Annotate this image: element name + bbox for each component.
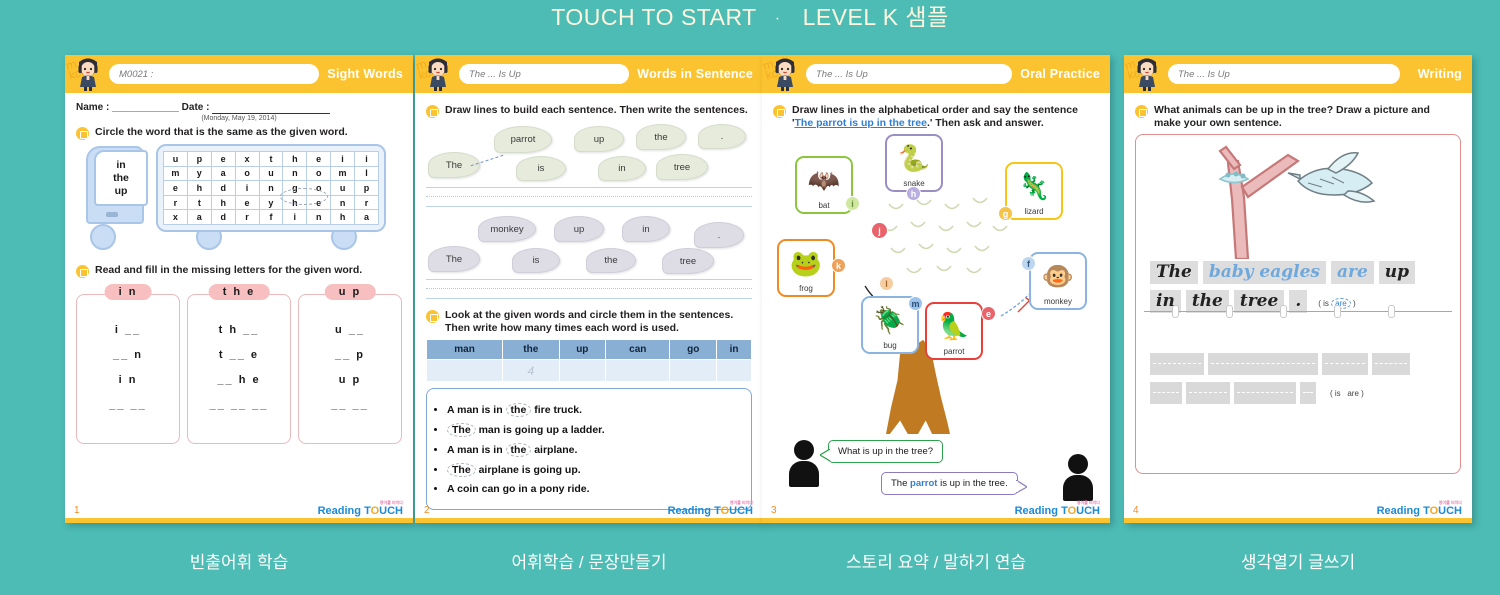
leaf-word[interactable]: in <box>622 216 670 242</box>
footer-bar <box>65 518 413 523</box>
word-line[interactable]: t __ e <box>188 349 290 361</box>
panel-1-instruction-1: Circle the word that is the same as the … <box>95 126 348 139</box>
leaf-word[interactable]: . <box>698 124 746 149</box>
date-label: Date : <box>182 102 213 113</box>
bat-icon: 🦇 <box>808 158 840 201</box>
speech-bubble-answer: The parrot is up in the tree. <box>881 472 1018 495</box>
count-cell[interactable] <box>670 360 717 382</box>
grid-cell[interactable]: p <box>187 152 211 167</box>
monkey-icon: 🐵 <box>1042 254 1074 297</box>
brand-logo-reading: Reading <box>318 505 361 517</box>
grid-cell[interactable]: h <box>283 152 307 167</box>
grid-cell[interactable]: d <box>211 210 235 225</box>
binder-clip-icon <box>1172 305 1179 318</box>
grid-cell[interactable]: a <box>355 210 379 225</box>
handwritten-word[interactable]: The <box>1150 261 1198 284</box>
grid-cell[interactable]: a <box>187 210 211 225</box>
binder-clip-icon <box>1334 305 1341 318</box>
grid-cell[interactable]: l <box>355 166 379 181</box>
leaf-word[interactable]: is <box>516 156 566 181</box>
footer-bar <box>415 518 763 523</box>
child-drawing-tree-and-bird-icon <box>1136 139 1460 259</box>
divider-line <box>1144 311 1452 312</box>
leaf-word[interactable]: in <box>598 156 646 181</box>
girl-mascot-icon <box>71 56 105 92</box>
girl-mascot-icon <box>1130 56 1164 92</box>
binder-clip-icon <box>1226 305 1233 318</box>
worksheet-panel-1[interactable]: mkoo M0021 : Sight Words Name : ________… <box>65 55 413 523</box>
blank-slot[interactable] <box>1372 353 1410 375</box>
date-hint: (Monday, May 19, 2014) <box>76 115 402 122</box>
grid-cell[interactable]: u <box>164 152 188 167</box>
given-word-2: up <box>115 185 128 198</box>
worksheet-panel-3[interactable]: mkoo The ... Is Up Oral Practice <box>762 55 1110 523</box>
panel-3-instruction-line2-tail: .' Then ask and answer. <box>927 117 1044 129</box>
grid-cell[interactable]: r <box>164 195 188 210</box>
caption-panel-2: 어휘학습 / 문장만들기 <box>415 548 763 573</box>
blank-choice-is[interactable]: is <box>1335 389 1341 398</box>
bubble-tail-icon <box>820 449 830 461</box>
number-badge-icon <box>76 127 89 140</box>
dialogue-row: What is up in the tree? The parrot is up… <box>773 434 1099 504</box>
grid-cell[interactable]: d <box>211 181 235 196</box>
word-line[interactable]: __ __ <box>77 399 179 411</box>
word-line[interactable]: t h __ <box>188 324 290 336</box>
given-words-window: in the up <box>94 150 148 206</box>
brand-logo-reading: Reading <box>1377 505 1420 517</box>
table-row[interactable]: 4 <box>427 360 752 382</box>
footer-bar <box>762 518 1110 523</box>
brand-logo-o: O <box>721 505 730 517</box>
order-badge[interactable]: f <box>1021 256 1036 271</box>
count-cell[interactable] <box>717 360 752 382</box>
word-line[interactable]: i __ <box>77 324 179 336</box>
leaf-word[interactable]: tree <box>656 154 708 180</box>
letter-grid-box[interactable]: upextheii myaounoml ehdingoup rtheyhenr … <box>156 144 386 232</box>
panel-2-instruction-2-row: Look at the given words and circle them … <box>426 309 752 335</box>
handwritten-word[interactable]: baby eagles <box>1203 261 1326 284</box>
blank-line-2: ( is are ) <box>1150 382 1434 404</box>
brand-logo-o: O <box>371 505 380 517</box>
choice-open: ( <box>1318 299 1321 308</box>
girl-mascot-icon <box>768 56 802 92</box>
caption-panel-1: 빈출어휘 학습 <box>65 548 413 573</box>
blank-verb-choice[interactable]: ( is are ) <box>1330 389 1364 398</box>
leaf-word-group-1: The parrot is up in the tree . <box>426 122 752 184</box>
binder-clip-icon <box>1280 305 1287 318</box>
sentence-post: airplane. <box>531 444 577 456</box>
date-blank-line[interactable] <box>212 102 330 114</box>
grid-cell[interactable]: r <box>355 195 379 210</box>
grid-cell[interactable]: x <box>235 152 259 167</box>
animal-label: monkey <box>1044 297 1072 306</box>
grid-cell[interactable]: n <box>331 195 355 210</box>
letter-grid[interactable]: upextheii myaounoml ehdingoup rtheyhenr … <box>163 151 379 225</box>
binder-clip-icon <box>1388 305 1395 318</box>
grid-cell[interactable]: n <box>283 166 307 181</box>
brand-logo-reading: Reading <box>668 505 711 517</box>
word-line[interactable]: __ n <box>77 349 179 361</box>
panel-2-sheet: Draw lines to build each sentence. Then … <box>415 93 763 523</box>
grid-cell[interactable]: n <box>307 210 331 225</box>
word-column[interactable]: t h e t h __ t __ e __ h e __ __ __ <box>187 294 291 444</box>
grid-cell[interactable]: e <box>164 181 188 196</box>
page-number: 3 <box>771 505 777 516</box>
name-date-row: Name : ____________ Date : <box>76 102 402 114</box>
brand-logo-o: O <box>1068 505 1077 517</box>
grid-cell[interactable]: e <box>235 195 259 210</box>
panel-4-section-label: Writing <box>1418 67 1472 81</box>
caption-panel-3: 스토리 요약 / 말하기 연습 <box>762 548 1110 573</box>
panel-1-sheet: Name : ____________ Date : (Monday, May … <box>65 93 413 523</box>
blank-choice-are[interactable]: are <box>1347 389 1359 398</box>
number-badge-icon <box>1135 105 1148 118</box>
speech-bubble-question: What is up in the tree? <box>828 440 943 463</box>
bug-icon: 🪲 <box>874 298 906 341</box>
truck-illustration: in the up upextheii myaounoml ehdingoup … <box>76 144 402 254</box>
worksheet-panel-4[interactable]: mkoo The ... Is Up Writing Wh <box>1124 55 1472 523</box>
grid-cell[interactable]: m <box>331 166 355 181</box>
blank-choice-open: ( <box>1330 389 1333 398</box>
number-badge-icon <box>773 105 786 118</box>
grid-cell[interactable]: r <box>235 210 259 225</box>
page-number: 2 <box>424 505 430 516</box>
panel-2-instruction-2-line1: Look at the given words and circle them … <box>445 309 733 321</box>
brand-logo-uch: UCH <box>1438 505 1462 517</box>
word-column-head: t h e <box>209 284 270 300</box>
order-badge[interactable]: m <box>908 296 923 311</box>
order-badge[interactable]: h <box>906 186 921 201</box>
answer-post: is up in the tree. <box>937 478 1007 489</box>
list-item[interactable]: The airplane is going up. <box>447 463 745 477</box>
handwritten-line-1: The baby eagles are up <box>1150 261 1432 284</box>
panel-4-sheet: What animals can be up in the tree? Draw… <box>1124 93 1472 523</box>
grid-cell[interactable]: x <box>164 210 188 225</box>
panel-3-header: mkoo The ... Is Up Oral Practice <box>762 55 1110 93</box>
blank-slot[interactable] <box>1186 382 1230 404</box>
leaf-word[interactable]: The <box>428 246 480 272</box>
blank-slot[interactable] <box>1150 382 1182 404</box>
circled-answer-marker <box>280 188 328 205</box>
grid-cell[interactable]: a <box>211 166 235 181</box>
word-line[interactable]: u __ <box>299 324 401 336</box>
blank-slot[interactable] <box>1208 353 1318 375</box>
leaf-word[interactable]: . <box>694 222 744 248</box>
brand-logo-o: O <box>1430 505 1439 517</box>
truck-wheel <box>90 224 116 250</box>
parrot-icon: 🦜 <box>938 304 970 347</box>
panel-1-unit-title: M0021 : <box>109 64 319 84</box>
panel-4-instruction-row: What animals can be up in the tree? Draw… <box>1135 104 1461 130</box>
list-item[interactable]: A coin can go in a pony ride. <box>447 483 745 495</box>
number-badge-icon <box>426 310 439 323</box>
order-badge[interactable]: e <box>981 306 996 321</box>
count-cell[interactable]: 4 <box>503 360 559 382</box>
leaf-word[interactable]: up <box>554 216 604 242</box>
number-badge-icon <box>426 105 439 118</box>
grid-cell[interactable]: e <box>211 152 235 167</box>
number-badge-icon <box>76 265 89 278</box>
caption-panel-4: 생각열기 글쓰기 <box>1124 548 1472 573</box>
panel-2-instruction-1-row: Draw lines to build each sentence. Then … <box>426 104 752 118</box>
leaf-word-group-2: monkey up in . The is the tree <box>426 216 752 276</box>
panel-1-instruction-1-row: Circle the word that is the same as the … <box>76 126 402 140</box>
blank-slot[interactable] <box>1150 353 1204 375</box>
grid-cell[interactable]: p <box>355 181 379 196</box>
panel-3-sheet: Draw lines in the alphabetical order and… <box>762 93 1110 523</box>
brand-logo: 영어를 터치다 Reading TOUCH <box>1377 500 1462 517</box>
animal-label: bug <box>883 341 896 350</box>
bubble-tail-icon <box>1016 480 1027 493</box>
count-cell[interactable] <box>559 360 606 382</box>
target-sentence: The parrot is up in the tree <box>795 117 927 129</box>
page-number: 4 <box>1133 505 1139 516</box>
circled-word[interactable]: The <box>447 463 476 477</box>
sentence-post: man is going up a ladder. <box>476 424 605 436</box>
animal-card-frog[interactable]: 🐸 frog <box>777 239 835 297</box>
grid-cell[interactable]: h <box>331 210 355 225</box>
panel-4-header: mkoo The ... Is Up Writing <box>1124 55 1472 93</box>
given-word-0: in <box>116 159 125 172</box>
grid-cell[interactable]: t <box>187 195 211 210</box>
handwritten-word[interactable]: tree <box>1234 290 1284 313</box>
word-column[interactable]: u p u __ __ p u p __ __ <box>298 294 402 444</box>
panel-4-unit-title: The ... Is Up <box>1168 64 1400 84</box>
word-line[interactable]: u p <box>299 374 401 386</box>
choice-close: ) <box>1353 299 1356 308</box>
word-line[interactable]: __ p <box>299 349 401 361</box>
handwritten-word[interactable]: the <box>1186 290 1229 313</box>
brand-logo: 영어를 터치다 Reading TOUCH <box>1015 500 1100 517</box>
animal-card-snake[interactable]: 🐍 snake <box>885 134 943 192</box>
table-header-row: man the up can go in <box>427 340 752 360</box>
top-title-main: TOUCH TO START <box>551 4 757 30</box>
blank-choice-close: ) <box>1361 389 1364 398</box>
panel-2-instruction-2-line2: Then write how many times each word is u… <box>445 322 679 334</box>
speaker-right-icon <box>1061 454 1095 502</box>
animal-card-lizard[interactable]: 🦎 lizard <box>1005 162 1063 220</box>
sentence-post: fire truck. <box>531 404 582 416</box>
count-cell[interactable] <box>427 360 503 382</box>
list-item[interactable]: The man is going up a ladder. <box>447 423 745 437</box>
brand-logo-uch: UCH <box>1076 505 1100 517</box>
order-badge[interactable]: k <box>831 258 846 273</box>
leaf-word[interactable]: the <box>636 124 686 150</box>
word-line[interactable]: __ h e <box>188 374 290 386</box>
panel-captions: 빈출어휘 학습 어휘학습 / 문장만들기 스토리 요약 / 말하기 연습 생각열… <box>0 548 1500 584</box>
word-count-table[interactable]: man the up can go in 4 <box>426 339 752 382</box>
grid-cell[interactable]: t <box>259 152 283 167</box>
sentence-pre: A coin can go in a pony ride. <box>447 483 590 495</box>
snake-icon: 🐍 <box>898 136 930 179</box>
animal-label: lizard <box>1024 207 1043 216</box>
leaf-word[interactable]: parrot <box>494 126 552 153</box>
panel-2-unit-title: The ... Is Up <box>459 64 629 84</box>
blank-line-1 <box>1150 353 1434 375</box>
grid-cell[interactable]: i <box>235 181 259 196</box>
given-word-1: the <box>113 172 129 185</box>
question-text: What is up in the tree? <box>838 446 933 457</box>
sentence-pre: A man is in <box>447 404 506 416</box>
answer-keyword: parrot <box>910 478 937 489</box>
top-title-separator: · <box>757 10 799 27</box>
table-header-cell: the <box>503 340 559 360</box>
animal-label: frog <box>799 284 813 293</box>
name-label: Name : ____________ <box>76 102 179 113</box>
leaf-word[interactable]: monkey <box>478 216 536 242</box>
girl-mascot-icon <box>421 56 455 92</box>
grid-cell[interactable]: e <box>307 152 331 167</box>
panel-2-header: mkoo The ... Is Up Words in Sentence <box>415 55 763 93</box>
list-item[interactable]: A man is in the airplane. <box>447 443 745 457</box>
grid-cell[interactable]: h <box>211 195 235 210</box>
blank-slot[interactable] <box>1322 353 1368 375</box>
blank-slot[interactable] <box>1300 382 1316 404</box>
table-header-cell: go <box>670 340 717 360</box>
order-badge[interactable]: g <box>998 206 1013 221</box>
grid-cell[interactable]: y <box>187 166 211 181</box>
list-item[interactable]: A man is in the fire truck. <box>447 403 745 417</box>
choice-is[interactable]: is <box>1323 299 1329 308</box>
circled-word[interactable]: the <box>506 443 532 457</box>
panel-3-instruction-row: Draw lines in the alphabetical order and… <box>773 104 1099 130</box>
panel-4-instruction-line1: What animals can be up in the tree? Draw… <box>1154 104 1430 116</box>
handwritten-word[interactable]: . <box>1289 290 1307 313</box>
worksheet-panel-2[interactable]: mkoo The ... Is Up Words in Sentence Dra <box>415 55 763 523</box>
grid-cell[interactable]: h <box>187 181 211 196</box>
table-header-cell: up <box>559 340 606 360</box>
blank-slot[interactable] <box>1234 382 1296 404</box>
panel-3-instruction-line1: Draw lines in the alphabetical order and… <box>792 104 1078 116</box>
drawing-and-writing-box[interactable]: The baby eagles are up in the tree . ( i… <box>1135 134 1461 474</box>
missing-letters-columns: i n i __ __ n i n __ __ t h e t h __ t _… <box>76 294 402 444</box>
blank-answer-lines[interactable]: ( is are ) <box>1150 353 1434 411</box>
panel-2-section-label: Words in Sentence <box>637 67 763 81</box>
circled-word[interactable]: the <box>506 403 532 417</box>
leaf-word[interactable]: is <box>512 248 560 273</box>
leaf-word[interactable]: up <box>574 126 624 152</box>
handwritten-word[interactable]: up <box>1379 261 1415 284</box>
page-number: 1 <box>74 505 80 516</box>
sentence-pre: A man is in <box>447 444 506 456</box>
top-title-bar: TOUCH TO START·LEVEL K 샘플 <box>0 0 1500 32</box>
grid-cell[interactable]: u <box>259 166 283 181</box>
top-title-subtitle: LEVEL K 샘플 <box>799 4 949 30</box>
order-badge[interactable]: j <box>871 222 888 239</box>
frog-icon: 🐸 <box>790 241 822 284</box>
leaf-word[interactable]: the <box>586 248 636 273</box>
panel-3-unit-title: The ... Is Up <box>806 64 1012 84</box>
order-badge[interactable]: l <box>879 276 894 291</box>
panel-3-section-label: Oral Practice <box>1020 67 1110 81</box>
panel-1-instruction-2: Read and fill in the missing letters for… <box>95 264 362 277</box>
circled-word[interactable]: The <box>447 423 476 437</box>
grid-cell[interactable]: f <box>259 210 283 225</box>
word-column-head: u p <box>325 284 376 300</box>
grid-cell[interactable]: i <box>355 152 379 167</box>
brand-logo: 영어를 터치다 Reading TOUCH <box>318 500 403 517</box>
order-badge[interactable]: i <box>845 196 860 211</box>
word-line[interactable]: __ __ <box>299 399 401 411</box>
word-column-head: i n <box>105 284 152 300</box>
panel-1-header: mkoo M0021 : Sight Words <box>65 55 413 93</box>
writing-lines-2[interactable] <box>426 277 752 307</box>
sentence-post: airplane is going up. <box>476 464 581 476</box>
word-line[interactable]: i n <box>77 374 179 386</box>
animal-card-monkey[interactable]: 🐵 monkey <box>1029 252 1087 310</box>
grid-cell[interactable]: u <box>331 181 355 196</box>
grid-cell[interactable]: m <box>164 166 188 181</box>
worksheet-panels: mkoo M0021 : Sight Words Name : ________… <box>0 55 1500 525</box>
table-header-cell: in <box>717 340 752 360</box>
speaker-left-icon <box>787 440 821 488</box>
animal-card-parrot[interactable]: 🦜 parrot <box>925 302 983 360</box>
panel-4-instruction-line2: make your own sentence. <box>1154 117 1282 129</box>
grid-cell[interactable]: o <box>307 166 331 181</box>
animal-label: parrot <box>944 347 965 356</box>
brand-logo-uch: UCH <box>729 505 753 517</box>
handwritten-word[interactable]: are <box>1331 261 1374 284</box>
leaf-word[interactable]: tree <box>662 248 714 274</box>
brand-logo-reading: Reading <box>1015 505 1058 517</box>
table-header-cell: man <box>427 340 503 360</box>
answer-pre: The <box>891 478 910 489</box>
grid-cell[interactable]: n <box>259 181 283 196</box>
word-line[interactable]: __ __ __ <box>188 399 290 411</box>
panel-1-section-label: Sight Words <box>327 67 413 81</box>
panel-2-instruction-1: Draw lines to build each sentence. Then … <box>445 104 748 117</box>
grid-cell[interactable]: i <box>283 210 307 225</box>
truck-door-handle-icon <box>106 212 118 217</box>
animal-label: bat <box>818 201 829 210</box>
brand-logo-uch: UCH <box>379 505 403 517</box>
count-cell[interactable] <box>606 360 670 382</box>
grid-cell[interactable]: i <box>331 152 355 167</box>
grid-cell[interactable]: o <box>235 166 259 181</box>
word-column[interactable]: i n i __ __ n i n __ __ <box>76 294 180 444</box>
table-header-cell: can <box>606 340 670 360</box>
tree-scene: 🦇 bat i 🐍 snake h 🦎 lizard g 🐸 frog <box>773 134 1099 434</box>
lizard-icon: 🦎 <box>1018 164 1050 207</box>
panel-1-instruction-2-row: Read and fill in the missing letters for… <box>76 264 402 278</box>
footer-bar <box>1124 518 1472 523</box>
sentence-list-box: A man is in the fire truck. The man is g… <box>426 388 752 510</box>
brand-logo: 영어를 터치다 Reading TOUCH <box>668 500 753 517</box>
writing-lines-1[interactable] <box>426 185 752 215</box>
